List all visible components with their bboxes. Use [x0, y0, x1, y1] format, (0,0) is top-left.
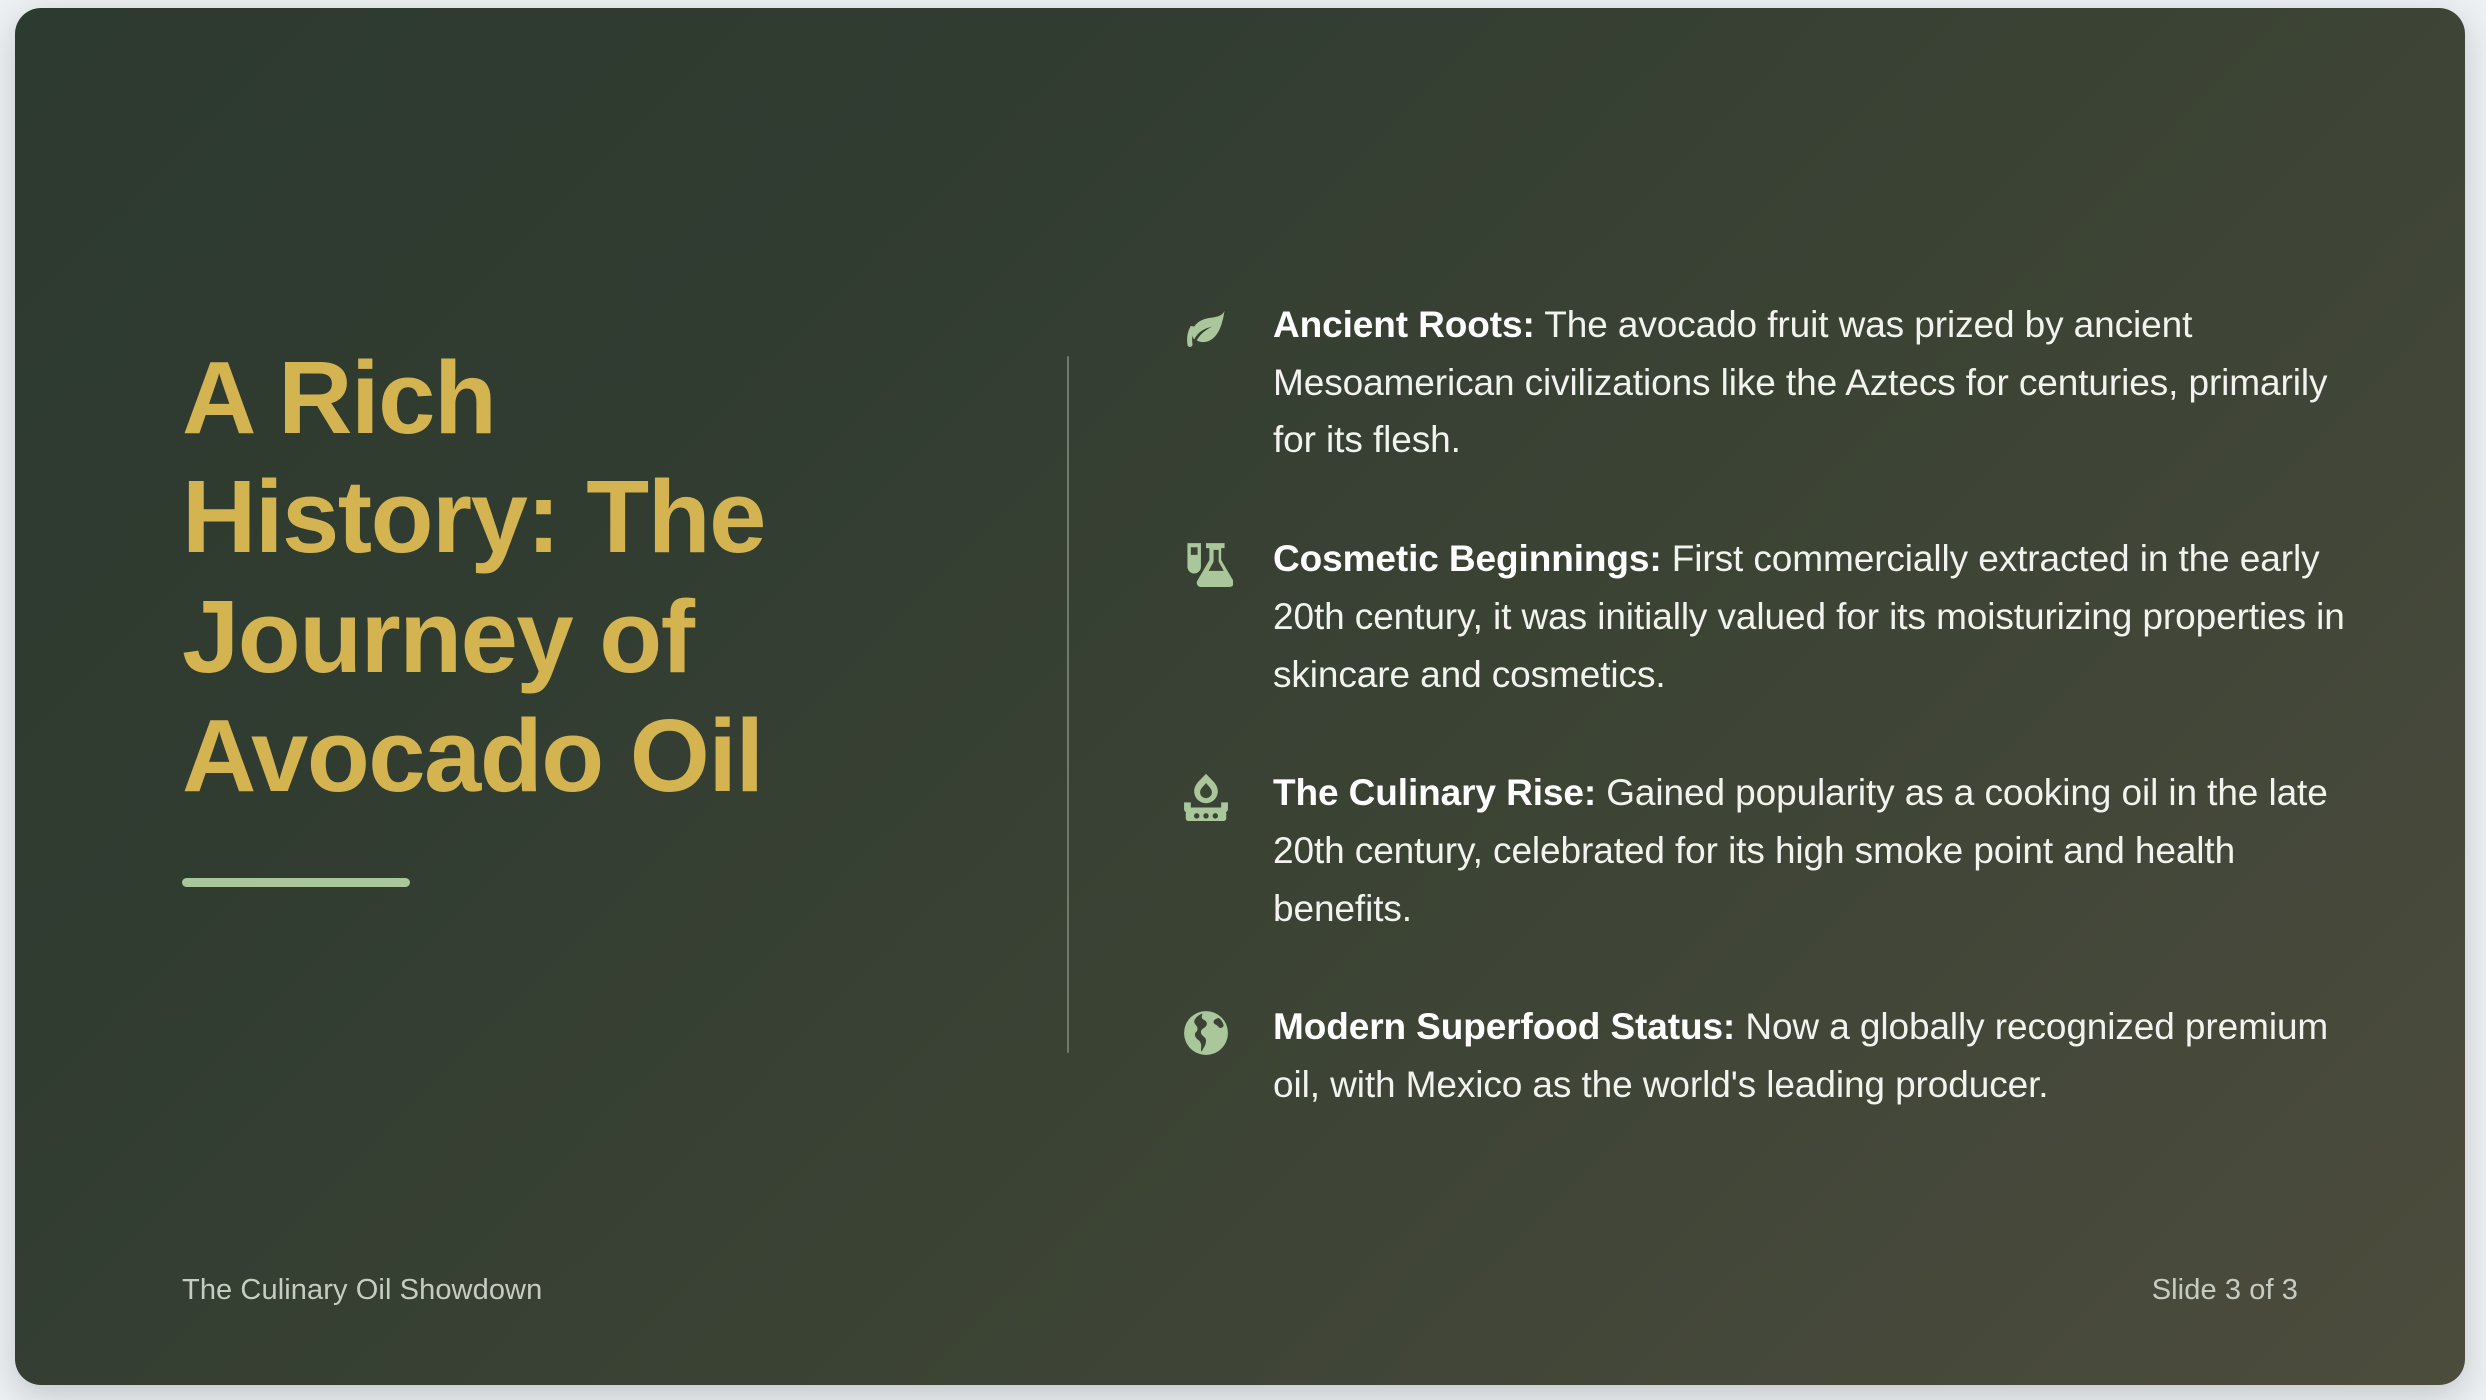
- list-item-lead: The Culinary Rise:: [1273, 772, 1596, 813]
- title-column: A Rich History: The Journey of Avocado O…: [15, 8, 1067, 887]
- title-underline-rule: [182, 878, 410, 887]
- list-item-lead: Cosmetic Beginnings:: [1273, 538, 1662, 579]
- bullet-list: Ancient Roots: The avocado fruit was pri…: [1069, 8, 2465, 1114]
- stove-flame-icon: [1177, 770, 1235, 828]
- list-item-text: Ancient Roots: The avocado fruit was pri…: [1273, 296, 2355, 469]
- slide-body: A Rich History: The Journey of Avocado O…: [15, 8, 2465, 1188]
- list-item-text: Cosmetic Beginnings: First commercially …: [1273, 530, 2355, 703]
- footer-deck-title: The Culinary Oil Showdown: [182, 1274, 542, 1307]
- globe-icon: [1177, 1004, 1235, 1062]
- list-item-lead: Modern Superfood Status:: [1273, 1006, 1735, 1047]
- slide-counter: Slide 3 of 3: [2152, 1274, 2298, 1307]
- list-item: The Culinary Rise: Gained popularity as …: [1177, 764, 2355, 937]
- list-item-text: Modern Superfood Status: Now a globally …: [1273, 998, 2355, 1113]
- presentation-slide: A Rich History: The Journey of Avocado O…: [15, 8, 2465, 1385]
- flasks-icon: [1177, 536, 1235, 594]
- slide-footer: The Culinary Oil Showdown Slide 3 of 3: [15, 1274, 2465, 1307]
- page-root: A Rich History: The Journey of Avocado O…: [0, 0, 2486, 1400]
- list-item-lead: Ancient Roots:: [1273, 304, 1535, 345]
- list-item: Ancient Roots: The avocado fruit was pri…: [1177, 296, 2355, 469]
- page-title: A Rich History: The Journey of Avocado O…: [182, 338, 842, 816]
- list-item: Cosmetic Beginnings: First commercially …: [1177, 530, 2355, 703]
- list-item-text: The Culinary Rise: Gained popularity as …: [1273, 764, 2355, 937]
- list-item: Modern Superfood Status: Now a globally …: [1177, 998, 2355, 1113]
- leaf-icon: [1177, 302, 1235, 360]
